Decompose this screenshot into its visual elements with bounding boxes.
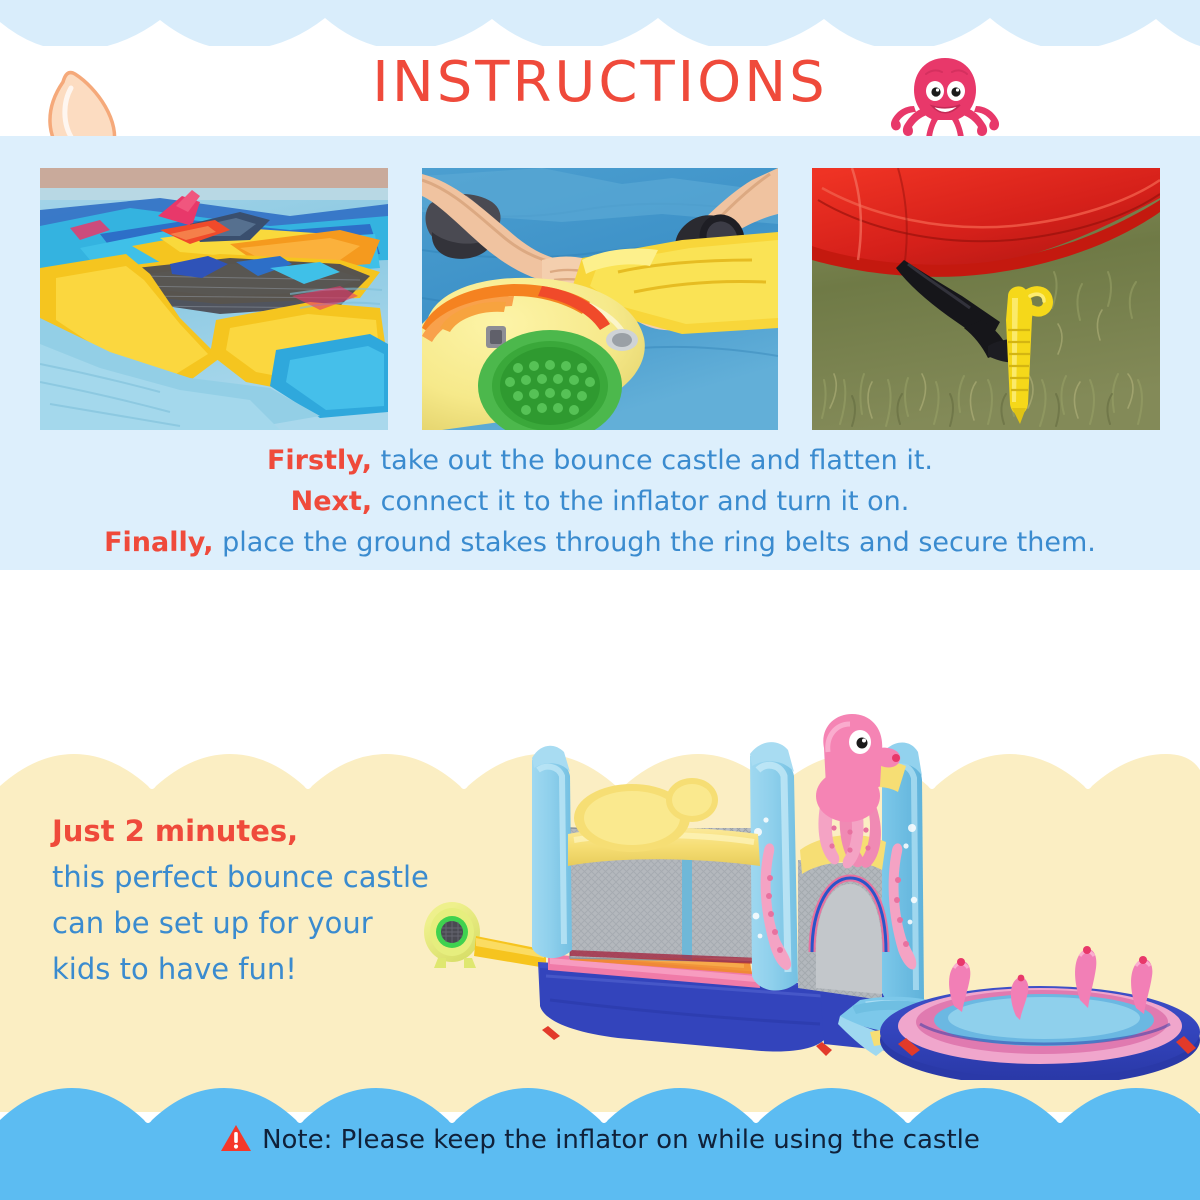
page-header: INSTRUCTIONS: [0, 28, 1200, 138]
step-text-2: connect it to the inflator and turn it o…: [372, 486, 909, 517]
footer-note: Note: Please keep the inflator on while …: [0, 1124, 1200, 1155]
photo-ground-stake: [812, 168, 1160, 430]
photo-flatten-castle: [40, 168, 388, 430]
infographic-page: INSTRUCTIONS: [0, 0, 1200, 1200]
photo-connect-inflator: [422, 168, 778, 430]
step-line-1: Firstly, take out the bounce castle and …: [0, 440, 1200, 481]
blurb-line-4: kids to have fun!: [52, 946, 482, 992]
blurb-text: Just 2 minutes, this perfect bounce cast…: [52, 808, 482, 992]
step-line-3: Finally, place the ground stakes through…: [0, 522, 1200, 563]
page-title: INSTRUCTIONS: [0, 50, 1200, 115]
blurb-line-2: this perfect bounce castle: [52, 854, 482, 900]
warning-triangle-icon: [220, 1124, 252, 1153]
photo-strip: [0, 168, 1200, 430]
blurb-headline: Just 2 minutes,: [52, 808, 482, 854]
step-keyword-1: Firstly,: [267, 445, 372, 476]
step-keyword-2: Next,: [291, 486, 373, 517]
blurb-line-3: can be set up for your: [52, 900, 482, 946]
footer-note-text: Note: Please keep the inflator on while …: [262, 1125, 980, 1155]
octopus-icon: [890, 50, 1000, 150]
step-line-2: Next, connect it to the inflator and tur…: [0, 481, 1200, 522]
air-blower-inflator: [424, 902, 546, 968]
step-text-3: place the ground stakes through the ring…: [214, 527, 1096, 558]
step-text-1: take out the bounce castle and flatten i…: [372, 445, 933, 476]
step-keyword-3: Finally,: [104, 527, 213, 558]
steps-list: Firstly, take out the bounce castle and …: [0, 440, 1200, 563]
product-image: [420, 700, 1200, 1080]
